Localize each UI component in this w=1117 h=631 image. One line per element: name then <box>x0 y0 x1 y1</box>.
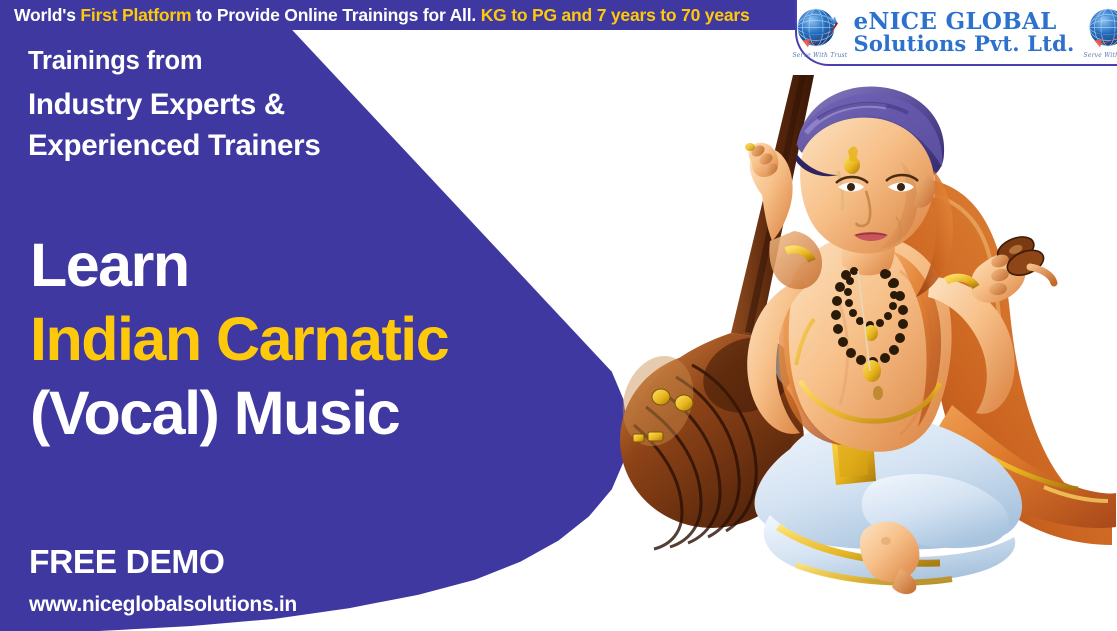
free-demo-label[interactable]: FREE DEMO <box>29 544 225 582</box>
globe-arrow-icon: Serve With Trust <box>792 6 844 58</box>
announcement-part-1: World's <box>14 5 80 25</box>
subheading-line1: Industry Experts & <box>28 84 320 125</box>
logo-tagline: Serve With Trust <box>792 52 844 59</box>
promo-banner: World's First Platform to Provide Online… <box>0 0 1117 631</box>
subheading: Industry Experts & Experienced Trainers <box>28 84 320 166</box>
logo-wordmark: eNICE GLOBAL Solutions Pvt. Ltd. <box>853 10 1074 55</box>
logo-name-line2: Solutions Pvt. Ltd. <box>853 33 1074 54</box>
company-logo-panel[interactable]: Serve With Trust eNICE GLOBAL Solutions … <box>795 0 1117 66</box>
globe-arrow-icon-secondary: Serve With Trust <box>1084 6 1117 58</box>
logo-contents: Serve With Trust eNICE GLOBAL Solutions … <box>778 6 1117 58</box>
announcement-highlight-2: KG to PG and 7 years to 70 years <box>481 5 750 25</box>
main-headline: Learn Indian Carnatic (Vocal) Music <box>30 228 448 450</box>
announcement-text: World's First Platform to Provide Online… <box>14 3 750 27</box>
headline-line-3: (Vocal) Music <box>30 376 448 450</box>
logo-tagline-secondary: Serve With Trust <box>1084 52 1117 59</box>
subheading-line2: Experienced Trainers <box>28 125 320 166</box>
announcement-highlight-1: First Platform <box>80 5 191 25</box>
website-url[interactable]: www.niceglobalsolutions.in <box>29 593 297 617</box>
headline-line-1: Learn <box>30 228 448 302</box>
carnatic-musician-illustration <box>600 75 1117 631</box>
kicker-text: Trainings from <box>28 47 202 76</box>
announcement-part-2: to Provide Online Trainings for All. <box>191 5 480 25</box>
logo-name-line1: eNICE GLOBAL <box>853 10 1074 33</box>
headline-line-2: Indian Carnatic <box>30 302 448 376</box>
